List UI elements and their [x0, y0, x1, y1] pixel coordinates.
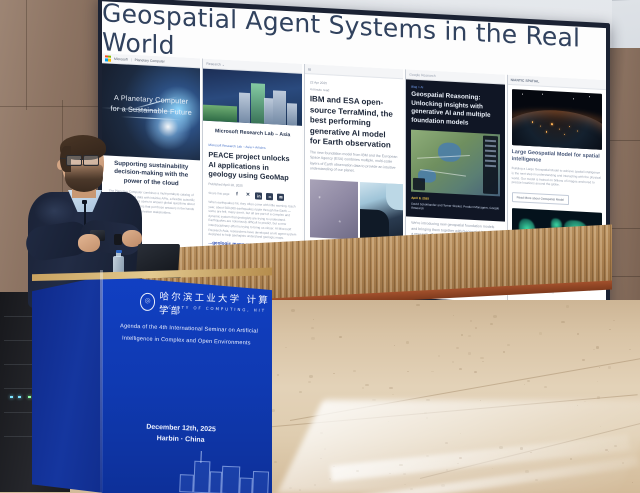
microsoft-logo-icon: [105, 55, 111, 61]
linkedin-icon[interactable]: in: [255, 192, 262, 199]
presenter-left-hand: [78, 234, 100, 252]
panel-4-hero-card: Blog > AI Geospatial Reasoning: Unlockin…: [406, 79, 504, 222]
panel-1-hero-title: A Planetary Computer for a Sustainable F…: [109, 91, 194, 118]
panel-4-map-image: [411, 130, 499, 197]
podium-side-panel: [32, 276, 104, 493]
panel-5-body: Building a Large Geospatial Model to ach…: [512, 166, 602, 189]
floor-reflection: [277, 400, 640, 493]
hit-seal-icon: ⌾: [140, 293, 156, 312]
panel-3-heading: IBM and ESA open-source TerraMind, the b…: [310, 94, 398, 151]
facebook-icon[interactable]: f: [233, 191, 240, 198]
panel-2-eyebrow: Microsoft Research Lab – Asia: [208, 125, 296, 143]
panel-3-date: 22 Apr 2025: [310, 80, 327, 85]
satellite-image-right: [360, 182, 403, 243]
panel-2-publish-date: Published April 18, 2025: [208, 182, 296, 191]
wristwatch: [114, 234, 122, 245]
eyeglasses: [66, 155, 104, 164]
map-legend: [413, 178, 425, 191]
podium: ⌾ 哈尔滨工业大学 计算学部 FACULTY OF COMPUTING, HIT…: [32, 276, 270, 493]
panel-2-body: When earthquakes hit, they often come wi…: [208, 200, 296, 242]
panel-5-brand: NIANTIC SPATIAL: [511, 77, 540, 83]
panel-4-heading: Geospatial Reasoning: Unlocking insights…: [411, 91, 499, 130]
link-icon[interactable]: ∞: [266, 193, 273, 200]
panel-3-lede: The new foundation model from IBM and th…: [310, 150, 398, 176]
map-side-chip: [483, 136, 498, 195]
panel-3-readtime: 4 minute read: [310, 87, 330, 92]
panel-2-heading: PEACE project unlocks AI applications in…: [208, 150, 296, 184]
podium-date-block: December 12th, 2025 Harbin · China: [146, 423, 216, 447]
share-label: Share this page: [208, 191, 229, 196]
panel-1-product: Planetary Computer: [135, 57, 165, 63]
panel-3-image-pair: [305, 179, 403, 243]
panel-1-brand: Microsoft: [114, 56, 128, 61]
panel-5-cta-button[interactable]: Read More about Geospatial Model: [512, 192, 569, 205]
satellite-image-left: [310, 180, 358, 241]
panel-2-hero-image: [203, 69, 301, 126]
presentation-room-scene: Geospatial Agent Systems in the Real Wor…: [0, 0, 640, 493]
email-icon[interactable]: ✉: [277, 193, 284, 200]
panel-5-heading: Large Geospatial Model for spatial intel…: [512, 149, 602, 168]
harbin-skyline-graphic: [177, 450, 279, 493]
x-twitter-icon[interactable]: ✕: [244, 192, 251, 199]
panel-5-earth-image: [512, 89, 602, 150]
